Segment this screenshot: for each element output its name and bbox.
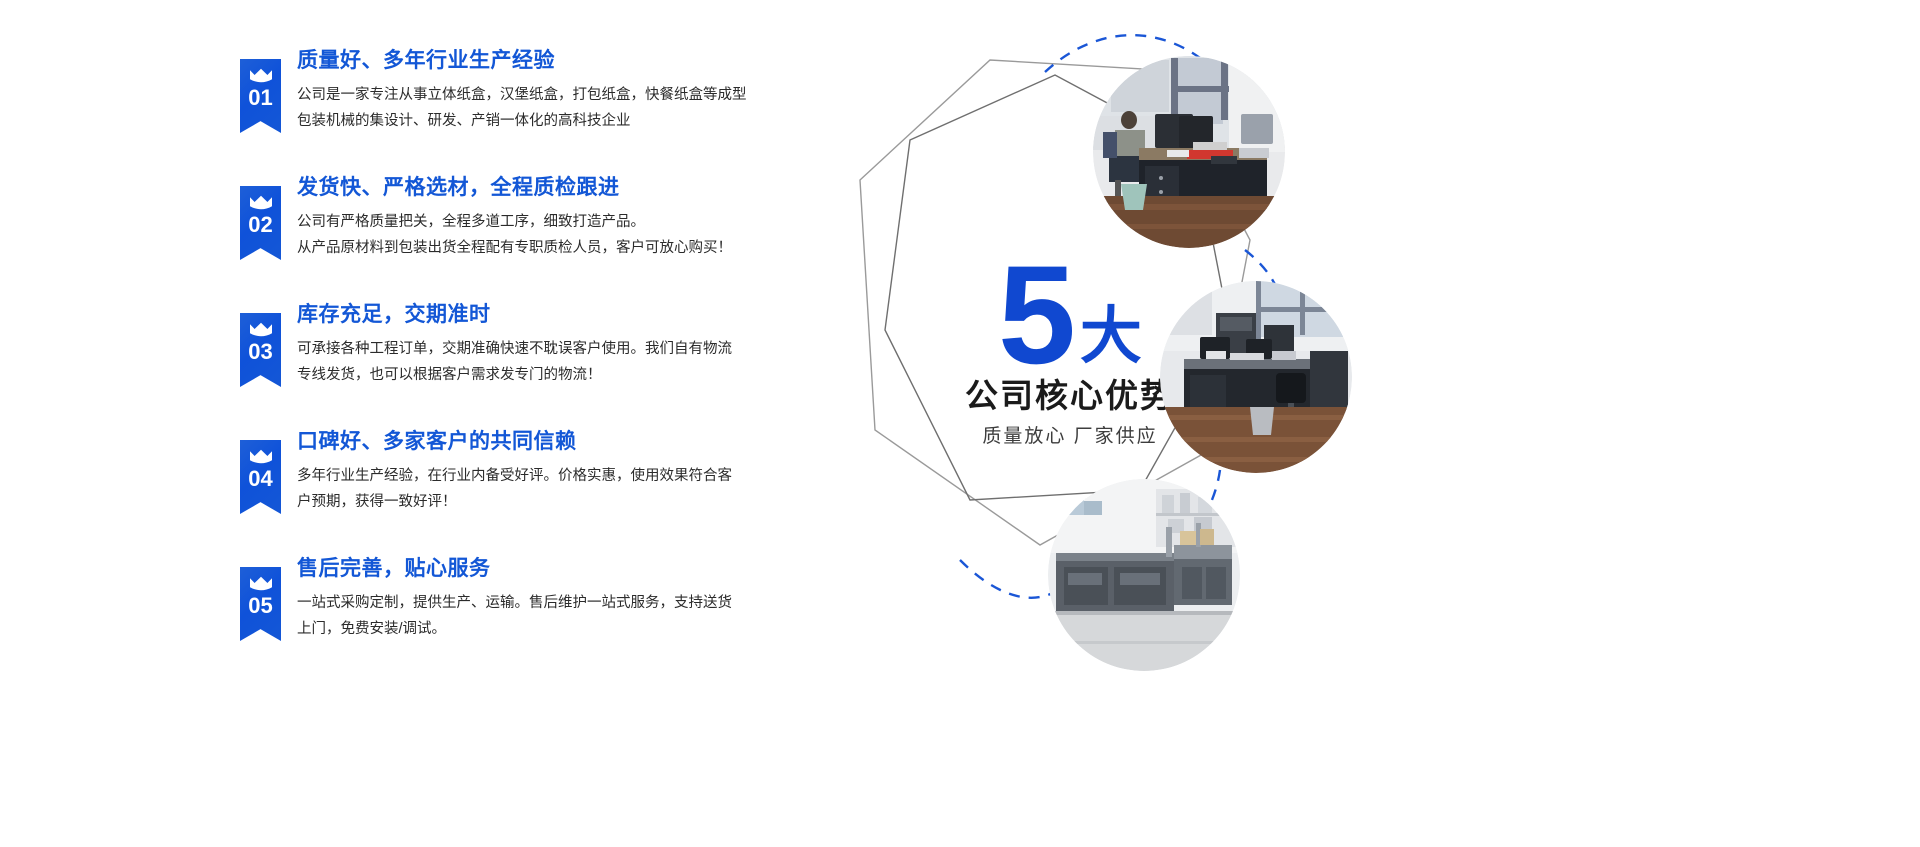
feature-title: 口碑好、多家客户的共同信赖 [297, 429, 800, 454]
feature-badge: 04 [240, 440, 281, 514]
feature-description: 公司是一家专注从事立体纸盒，汉堡纸盒，打包纸盒，快餐纸盒等成型 包装机械的集设计… [297, 83, 767, 134]
crown-icon [249, 576, 273, 591]
crown-icon [249, 449, 273, 464]
core-advantage-graphic: 5 大 公司核心优势 质量放心 厂家供应 [790, 0, 1920, 847]
feature-description-line: 一站式采购定制，提供生产、运输。售后维护一站式服务，支持送货 [297, 591, 767, 616]
feature-title: 售后完善，贴心服务 [297, 556, 800, 581]
feature-number: 01 [240, 87, 281, 109]
feature-title: 发货快、严格选材，全程质检跟进 [297, 175, 800, 200]
feature-badge: 03 [240, 313, 281, 387]
feature-number: 02 [240, 214, 281, 236]
big-number: 5 [998, 255, 1074, 374]
feature-item: 01 质量好、多年行业生产经验 公司是一家专注从事立体纸盒，汉堡纸盒，打包纸盒，… [240, 48, 800, 144]
feature-title: 质量好、多年行业生产经验 [297, 48, 800, 73]
office-workspace-illustration [1093, 56, 1285, 248]
feature-item: 03 库存充足，交期准时 可承接各种工程订单，交期准确快速不耽误客户使用。我们自… [240, 302, 800, 398]
dashed-connector-bottom-left [960, 560, 1058, 598]
feature-description-line: 公司有严格质量把关，全程多道工序，细致打造产品。 [297, 210, 767, 235]
feature-description-line: 包装机械的集设计、研发、产销一体化的高科技企业 [297, 109, 767, 134]
feature-description-line: 公司是一家专注从事立体纸盒，汉堡纸盒，打包纸盒，快餐纸盒等成型 [297, 83, 767, 108]
feature-description-line: 专线发货，也可以根据客户需求发专门的物流！ [297, 363, 767, 388]
crown-icon [249, 68, 273, 83]
feature-number: 04 [240, 468, 281, 490]
production-machine-illustration [1048, 479, 1240, 671]
office-interior-photo [1160, 281, 1352, 473]
office-workspace-photo [1093, 56, 1285, 248]
crown-icon [249, 195, 273, 210]
feature-badge: 02 [240, 186, 281, 260]
feature-title: 库存充足，交期准时 [297, 302, 800, 327]
feature-number: 03 [240, 341, 281, 363]
feature-badge: 01 [240, 59, 281, 133]
feature-description: 一站式采购定制，提供生产、运输。售后维护一站式服务，支持送货 上门，免费安装/调… [297, 591, 767, 642]
feature-description: 公司有严格质量把关，全程多道工序，细致打造产品。 从产品原材料到包装出货全程配有… [297, 210, 767, 261]
feature-description-line: 上门，免费安装/调试。 [297, 617, 767, 642]
feature-description-line: 从产品原材料到包装出货全程配有专职质检人员，客户可放心购买！ [297, 236, 767, 261]
feature-description: 多年行业生产经验，在行业内备受好评。价格实惠，使用效果符合客 户预期，获得一致好… [297, 464, 767, 515]
feature-badge: 05 [240, 567, 281, 641]
feature-description-line: 户预期，获得一致好评！ [297, 490, 767, 515]
feature-item: 05 售后完善，贴心服务 一站式采购定制，提供生产、运输。售后维护一站式服务，支… [240, 556, 800, 652]
promo-page: 01 质量好、多年行业生产经验 公司是一家专注从事立体纸盒，汉堡纸盒，打包纸盒，… [0, 0, 1920, 847]
feature-item: 04 口碑好、多家客户的共同信赖 多年行业生产经验，在行业内备受好评。价格实惠，… [240, 429, 800, 525]
feature-description: 可承接各种工程订单，交期准确快速不耽误客户使用。我们自有物流 专线发货，也可以根… [297, 337, 767, 388]
feature-item: 02 发货快、严格选材，全程质检跟进 公司有严格质量把关，全程多道工序，细致打造… [240, 175, 800, 271]
feature-list: 01 质量好、多年行业生产经验 公司是一家专注从事立体纸盒，汉堡纸盒，打包纸盒，… [240, 48, 800, 652]
feature-description-line: 多年行业生产经验，在行业内备受好评。价格实惠，使用效果符合客 [297, 464, 767, 489]
production-machine-photo [1048, 479, 1240, 671]
crown-icon [249, 322, 273, 337]
feature-description-line: 可承接各种工程订单，交期准确快速不耽误客户使用。我们自有物流 [297, 337, 767, 362]
office-interior-illustration [1160, 281, 1352, 473]
big-unit-label: 大 [1080, 306, 1142, 368]
feature-number: 05 [240, 595, 281, 617]
